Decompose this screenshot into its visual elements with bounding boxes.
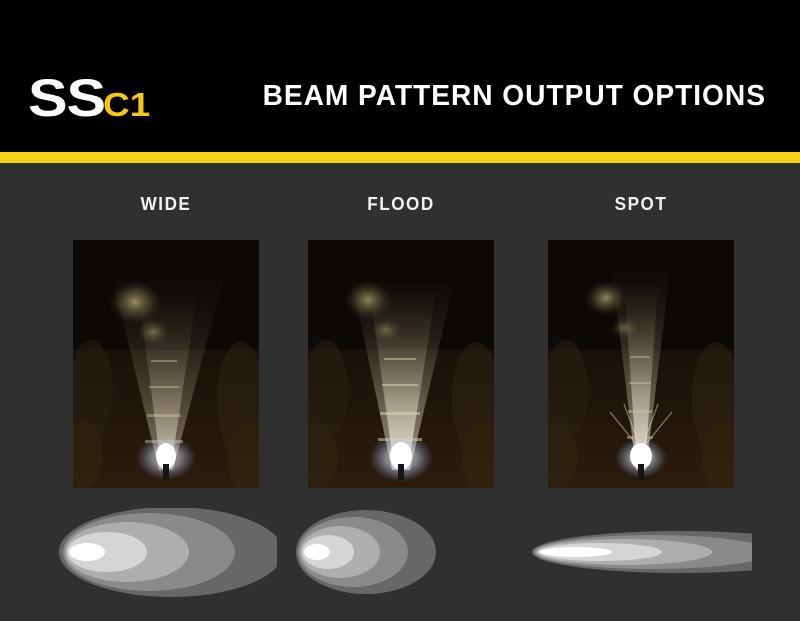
spot-beam-pattern-diagram [530, 508, 752, 603]
ssc1-logo: SS C1 [28, 72, 145, 124]
beam-label-wide: WIDE [61, 194, 272, 215]
flood-beam-night-road-photo [308, 240, 494, 488]
beam-comparison-grid: WIDE [0, 163, 800, 621]
wide-beam-night-road-photo [73, 240, 259, 488]
beam-label-flood: FLOOD [296, 194, 507, 215]
header-accent-divider [0, 152, 800, 163]
logo-secondary-text: C1 [103, 88, 150, 121]
page-title: BEAM PATTERN OUTPUT OPTIONS [263, 80, 766, 113]
logo-primary-text: SS [28, 72, 105, 125]
spot-beam-night-road-photo [548, 240, 734, 488]
wide-beam-pattern-diagram [55, 508, 277, 603]
flood-beam-pattern-diagram [290, 508, 512, 603]
page-header: SS C1 BEAM PATTERN OUTPUT OPTIONS [0, 0, 800, 152]
beam-label-spot: SPOT [536, 194, 747, 215]
